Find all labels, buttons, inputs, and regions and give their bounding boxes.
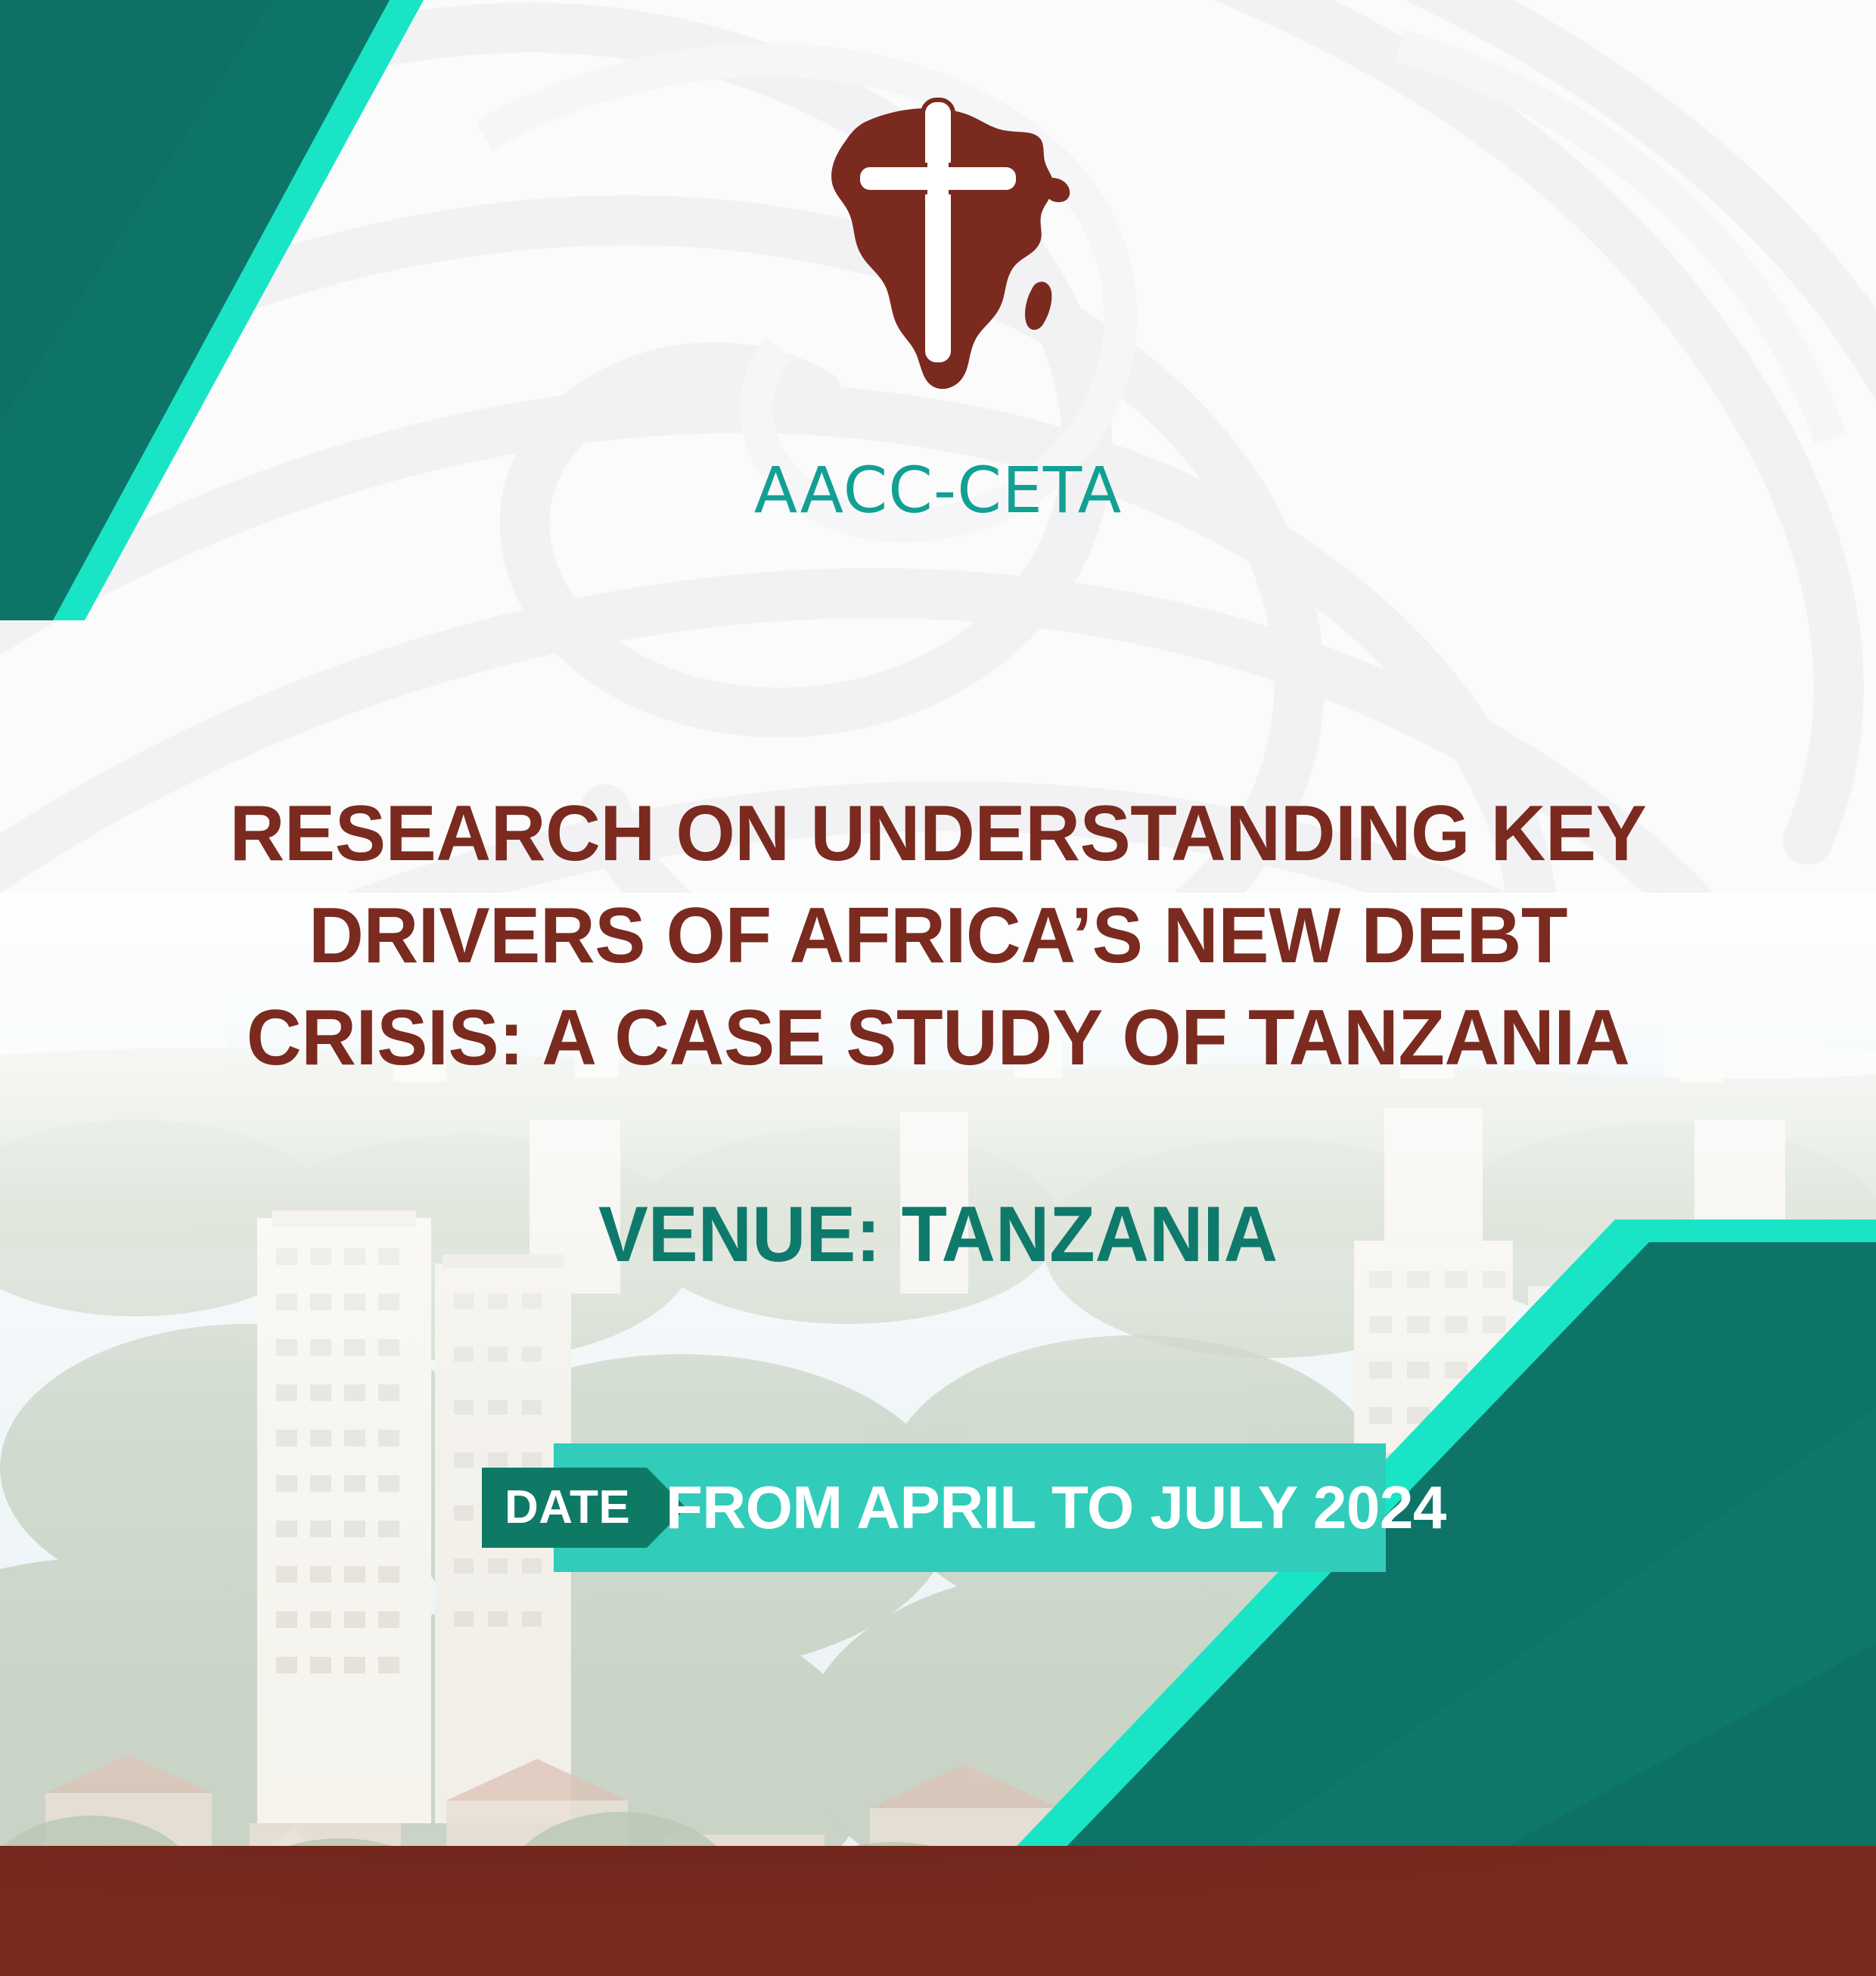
bottom-bar-shading [0, 1846, 1876, 1976]
event-poster: AACC-CETA RESEARCH ON UNDERSTANDING KEY … [0, 0, 1876, 1976]
title-line-3: CRISIS: A CASE STUDY OF TANZANIA [72, 987, 1803, 1089]
bottom-accent-bar [0, 1846, 1876, 1976]
date-tag-body: DATE [482, 1468, 647, 1548]
date-value: FROM APRIL TO JULY 2024 [666, 1443, 1446, 1572]
title-line-1: RESEARCH ON UNDERSTANDING KEY [72, 783, 1803, 885]
page-title: RESEARCH ON UNDERSTANDING KEY DRIVERS OF… [72, 783, 1803, 1090]
title-line-2: DRIVERS OF AFRICA’S NEW DEBT [72, 885, 1803, 987]
date-tag: DATE [482, 1468, 686, 1548]
venue-text: VENUE: TANZANIA [47, 1195, 1829, 1274]
date-tag-label: DATE [505, 1484, 630, 1531]
africa-map-with-cross-icon [779, 89, 1097, 445]
organization-logo: AACC-CETA [0, 89, 1876, 522]
organization-acronym: AACC-CETA [754, 458, 1122, 522]
